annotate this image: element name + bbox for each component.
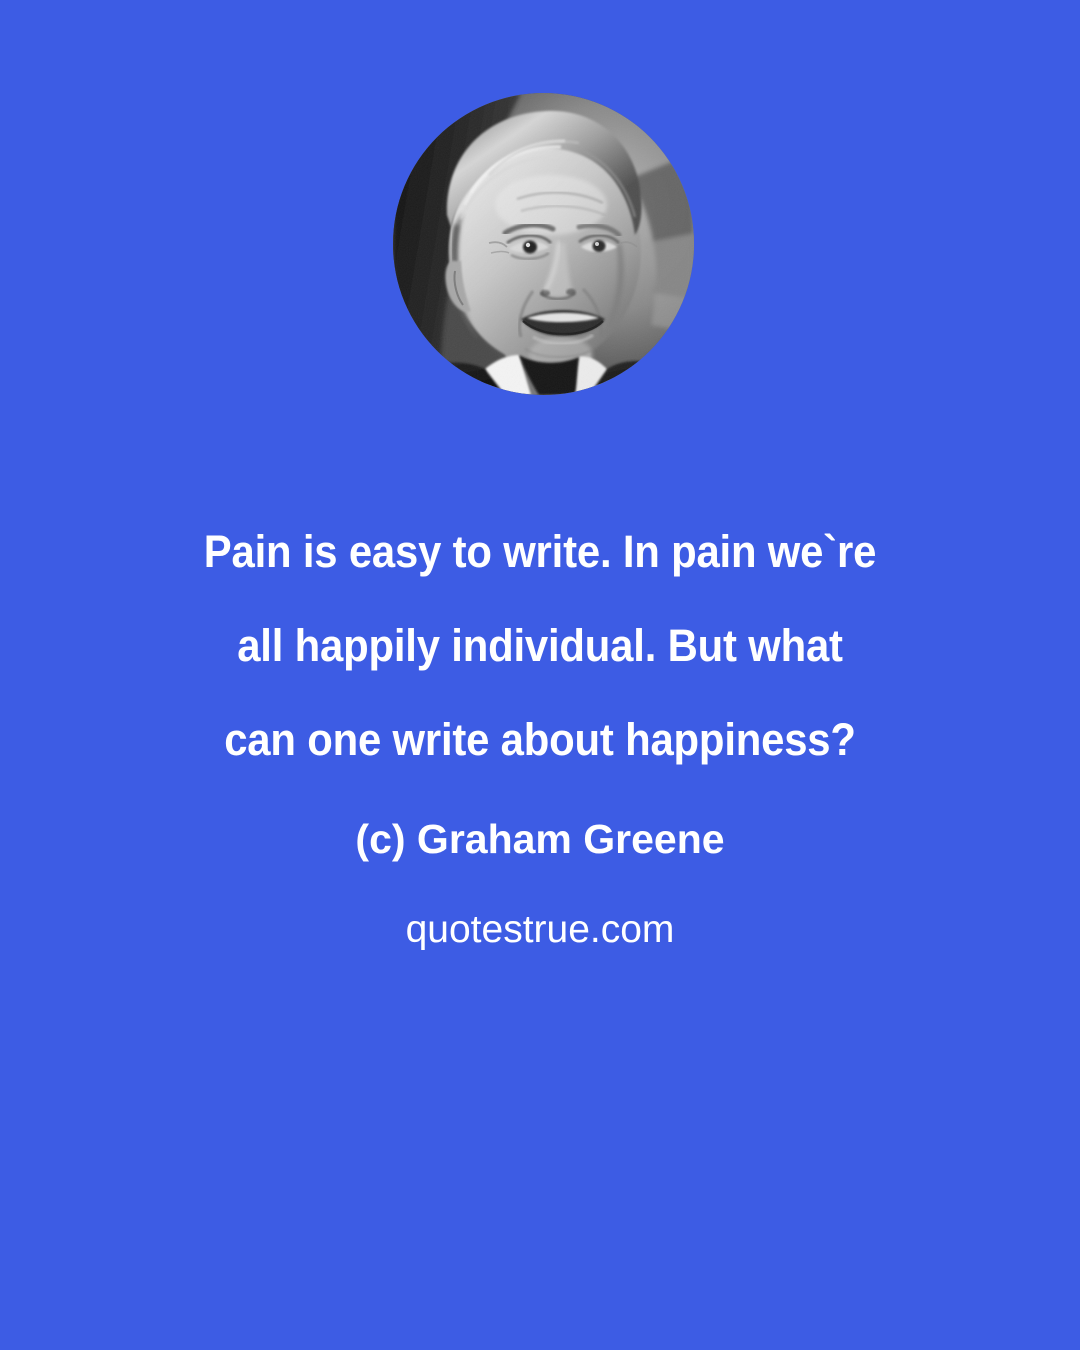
quote-text-block: Pain is easy to write. In pain we`re all… [0, 505, 1080, 958]
website-watermark: quotestrue.com [0, 902, 1080, 958]
quote-line-2: all happily individual. But what [38, 599, 1042, 693]
quote-line-1: Pain is easy to write. In pain we`re [38, 505, 1042, 599]
portrait-illustration [393, 93, 694, 395]
author-portrait-photo [393, 93, 694, 395]
quote-poster: Pain is easy to write. In pain we`re all… [0, 0, 1080, 1350]
quote-line-3: can one write about happiness? [38, 693, 1042, 787]
quote-author-attribution: (c) Graham Greene [0, 809, 1080, 869]
